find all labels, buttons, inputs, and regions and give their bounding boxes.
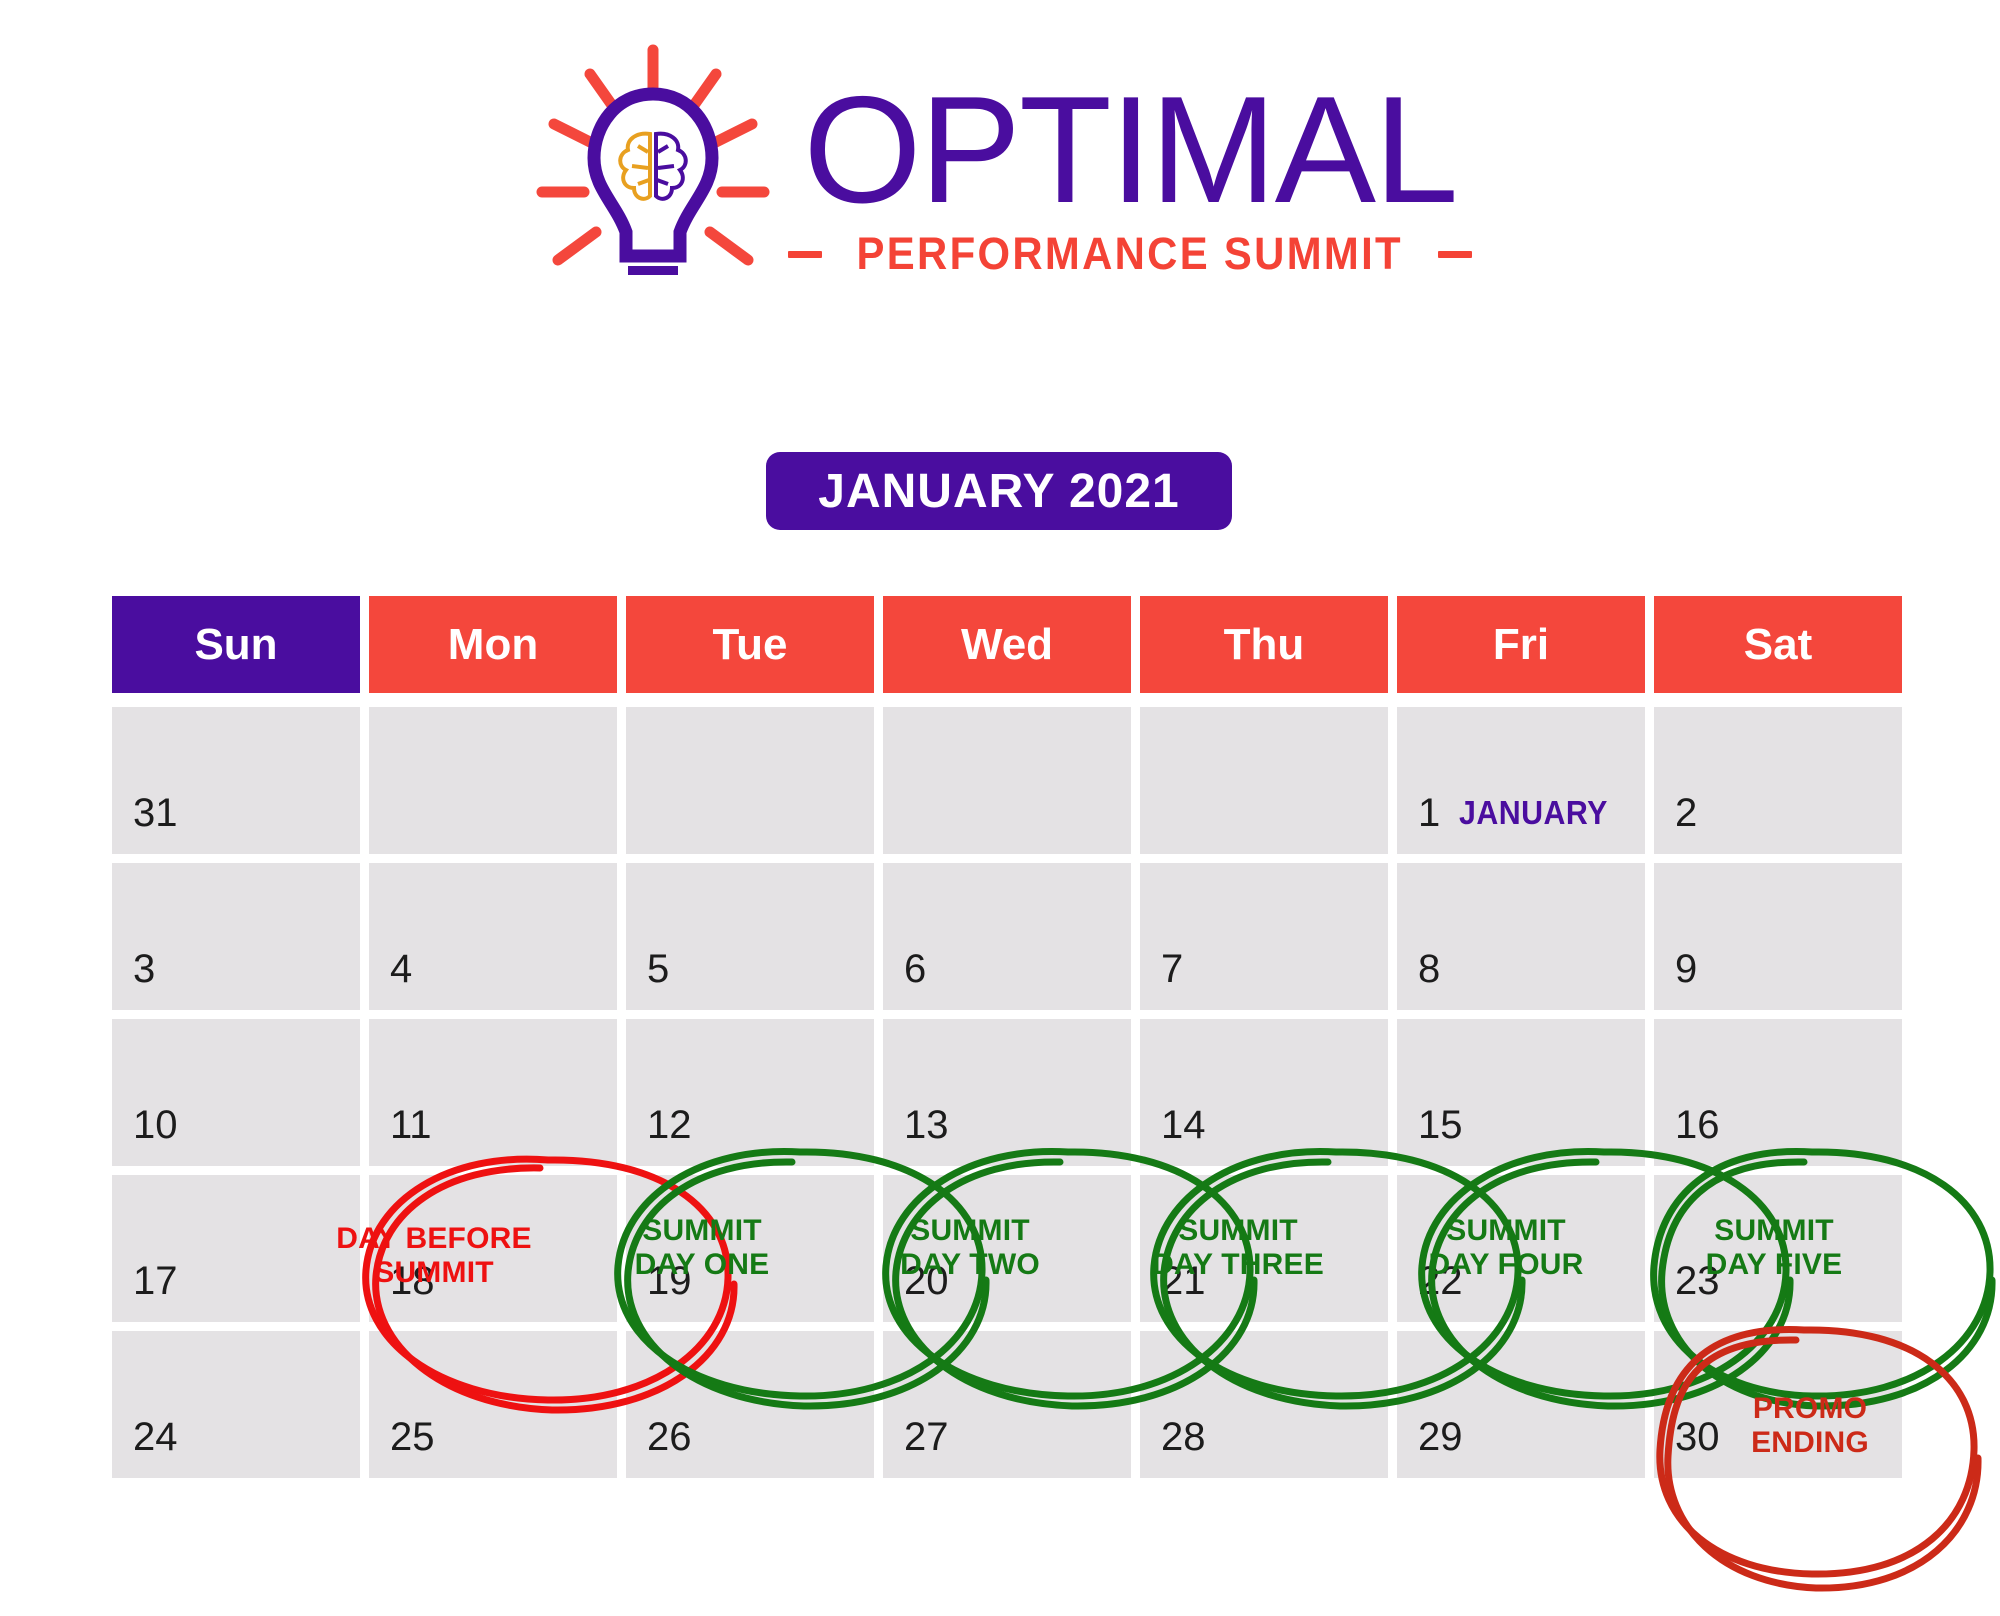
day-cell-26[interactable]: 26 bbox=[626, 1331, 874, 1478]
annotation-label-day-before-summit: DAY BEFORE SUMMIT bbox=[324, 1222, 544, 1289]
annotation-label-summit-day-one: SUMMIT DAY ONE bbox=[592, 1214, 812, 1281]
annotation-label-summit-day-two: SUMMIT DAY TWO bbox=[860, 1214, 1080, 1281]
lightbulb-brain-icon bbox=[528, 42, 778, 292]
calendar-grid: SunMonTueWedThuFriSat 311JANUARY23456789… bbox=[112, 596, 1902, 1478]
day-cell-29[interactable]: 29 bbox=[1397, 1331, 1645, 1478]
day-cell-28[interactable]: 28 bbox=[1140, 1331, 1388, 1478]
weekday-header-wed: Wed bbox=[883, 596, 1131, 693]
month-label: JANUARY 2021 bbox=[818, 464, 1180, 519]
annotation-label-promo-ending: PROMO ENDING bbox=[1700, 1392, 1920, 1459]
month-inline-tag: JANUARY bbox=[1459, 794, 1608, 832]
day-cell-1[interactable]: 1JANUARY bbox=[1397, 707, 1645, 854]
day-cell-7[interactable]: 7 bbox=[1140, 863, 1388, 1010]
days-grid: 311JANUARY234567891011121314151617181920… bbox=[112, 707, 1902, 1478]
day-cell-10[interactable]: 10 bbox=[112, 1019, 360, 1166]
day-cell-4[interactable]: 4 bbox=[369, 863, 617, 1010]
day-cell-empty bbox=[883, 707, 1131, 854]
day-cell-empty bbox=[626, 707, 874, 854]
annotation-label-summit-day-three: SUMMIT DAY THREE bbox=[1128, 1214, 1348, 1281]
day-number: 15 bbox=[1418, 1103, 1463, 1148]
day-cell-11[interactable]: 11 bbox=[369, 1019, 617, 1166]
weekday-header-thu: Thu bbox=[1140, 596, 1388, 693]
dash-left-icon bbox=[788, 251, 822, 258]
day-cell-15[interactable]: 15 bbox=[1397, 1019, 1645, 1166]
weekday-header-sat: Sat bbox=[1654, 596, 1902, 693]
calendar-page: OPTIMAL PERFORMANCE SUMMIT JANUARY 2021 … bbox=[0, 0, 2000, 1616]
day-number: 28 bbox=[1161, 1415, 1206, 1460]
day-number: 11 bbox=[390, 1103, 432, 1148]
month-banner[interactable]: JANUARY 2021 bbox=[766, 452, 1232, 530]
day-cell-6[interactable]: 6 bbox=[883, 863, 1131, 1010]
day-number: 14 bbox=[1161, 1103, 1206, 1148]
day-number: 16 bbox=[1675, 1103, 1720, 1148]
day-cell-17[interactable]: 17 bbox=[112, 1175, 360, 1322]
day-number: 7 bbox=[1161, 947, 1183, 992]
day-number: 31 bbox=[133, 791, 178, 836]
day-number: 4 bbox=[390, 947, 412, 992]
weekday-header-mon: Mon bbox=[369, 596, 617, 693]
day-cell-empty bbox=[369, 707, 617, 854]
day-number: 8 bbox=[1418, 947, 1440, 992]
day-number: 3 bbox=[133, 947, 155, 992]
brand-subtitle: PERFORMANCE SUMMIT bbox=[857, 228, 1403, 280]
day-cell-24[interactable]: 24 bbox=[112, 1331, 360, 1478]
day-number: 24 bbox=[133, 1415, 178, 1460]
day-number: 1 bbox=[1418, 791, 1440, 836]
weekday-header-tue: Tue bbox=[626, 596, 874, 693]
day-cell-27[interactable]: 27 bbox=[883, 1331, 1131, 1478]
weekday-header-fri: Fri bbox=[1397, 596, 1645, 693]
day-cell-8[interactable]: 8 bbox=[1397, 863, 1645, 1010]
day-cell-12[interactable]: 12 bbox=[626, 1019, 874, 1166]
weekday-header-sun: Sun bbox=[112, 596, 360, 693]
annotation-label-summit-day-five: SUMMIT DAY FIVE bbox=[1664, 1214, 1884, 1281]
day-number: 25 bbox=[390, 1415, 435, 1460]
day-cell-13[interactable]: 13 bbox=[883, 1019, 1131, 1166]
day-number: 17 bbox=[133, 1259, 178, 1304]
day-cell-25[interactable]: 25 bbox=[369, 1331, 617, 1478]
brand-subline: PERFORMANCE SUMMIT bbox=[788, 228, 1471, 280]
day-cell-9[interactable]: 9 bbox=[1654, 863, 1902, 1010]
day-number: 9 bbox=[1675, 947, 1697, 992]
day-cell-16[interactable]: 16 bbox=[1654, 1019, 1902, 1166]
day-number: 10 bbox=[133, 1103, 178, 1148]
dash-right-icon bbox=[1438, 251, 1472, 258]
day-number: 2 bbox=[1675, 791, 1697, 836]
day-number: 12 bbox=[647, 1103, 692, 1148]
weekday-header-row: SunMonTueWedThuFriSat bbox=[112, 596, 1902, 693]
brand-wordmark: OPTIMAL bbox=[803, 78, 1456, 222]
day-number: 5 bbox=[647, 947, 669, 992]
day-number: 13 bbox=[904, 1103, 949, 1148]
day-cell-14[interactable]: 14 bbox=[1140, 1019, 1388, 1166]
day-cell-empty bbox=[1140, 707, 1388, 854]
brand-logo: OPTIMAL PERFORMANCE SUMMIT bbox=[0, 42, 2000, 292]
day-number: 6 bbox=[904, 947, 926, 992]
day-cell-2[interactable]: 2 bbox=[1654, 707, 1902, 854]
day-number: 27 bbox=[904, 1415, 949, 1460]
day-cell-31[interactable]: 31 bbox=[112, 707, 360, 854]
logo-text-block: OPTIMAL PERFORMANCE SUMMIT bbox=[788, 42, 1471, 280]
annotation-label-summit-day-four: SUMMIT DAY FOUR bbox=[1396, 1214, 1616, 1281]
day-cell-3[interactable]: 3 bbox=[112, 863, 360, 1010]
day-cell-5[interactable]: 5 bbox=[626, 863, 874, 1010]
day-number: 29 bbox=[1418, 1415, 1463, 1460]
day-number: 26 bbox=[647, 1415, 692, 1460]
